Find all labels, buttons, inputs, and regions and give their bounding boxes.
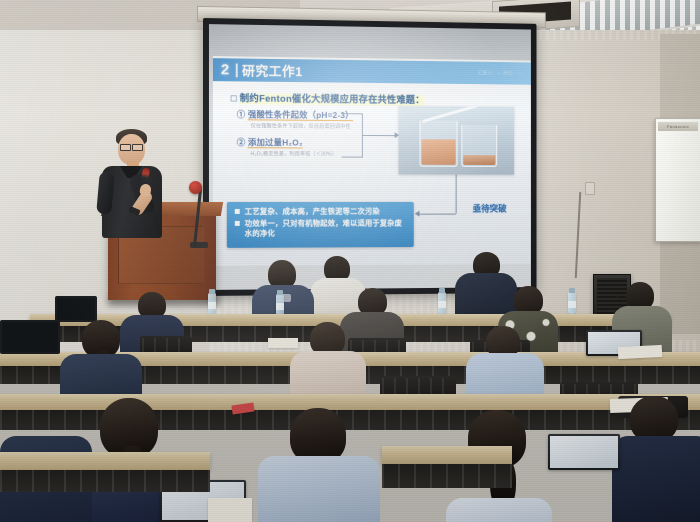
connector-arrowhead-left <box>415 211 420 217</box>
classroom-desk <box>0 452 210 470</box>
water-bottle <box>438 292 446 314</box>
connector-bottom <box>342 157 363 158</box>
attendee-ponytail-navy <box>60 320 142 396</box>
slide-point-1-note: 仅在强酸性条件下起效，反应后需回调中性 <box>251 122 351 130</box>
summary-bullet-square <box>235 209 240 214</box>
slide-headline-text: 制约Fenton催化大规模应用存在共性难题： <box>240 93 425 106</box>
water-bottle <box>276 294 284 316</box>
whiteboard-brand-label: Panasonic <box>658 122 698 131</box>
connector-to-box <box>420 214 456 215</box>
water-bottle <box>208 293 216 315</box>
connector-to-photo <box>362 135 395 136</box>
whiteboard: Panasonic <box>655 118 700 242</box>
desk-monitor <box>55 296 97 322</box>
presenter-glasses <box>120 144 143 149</box>
slide-title-text: 研究工作1 <box>242 61 303 81</box>
slide-right-note: 亟待突破 <box>473 204 518 214</box>
notebook-paper <box>208 498 252 522</box>
desk-monitor <box>0 320 60 354</box>
summary-item: 工艺复杂、成本高，产生铁泥等二次污染 <box>233 207 408 216</box>
classroom-desk <box>382 446 512 464</box>
slide-title-divider <box>236 63 238 77</box>
laptop <box>548 434 620 470</box>
slide-headline-bullet: □ <box>231 93 237 104</box>
attendee-navy-far-right <box>612 396 700 522</box>
attendee-light-blue-shirt <box>466 326 544 392</box>
gooseneck-microphone-head <box>189 181 202 194</box>
screen-surface: 2 研究工作1 汇报人：— 单位：— □ 制约Fenton催化大规模应用存在共性… <box>209 24 531 290</box>
notebook-paper <box>268 338 298 348</box>
summary-item: 功效单一，只对有机物起效，难以适用于复杂废水的净化 <box>233 219 408 238</box>
notebook-paper <box>618 345 663 359</box>
desk-front-panel <box>0 470 210 492</box>
slide-photo-beakers <box>398 106 514 175</box>
summary-bullet-square <box>235 221 240 226</box>
slide-point-1: ① 强酸性条件起效（pH=2-3） <box>237 108 354 121</box>
slide-point-1-marker: ① <box>237 109 246 119</box>
connector-down <box>456 175 457 214</box>
slide-summary-box: 工艺复杂、成本高，产生铁泥等二次污染 功效单一，只对有机物起效，难以适用于复杂废… <box>227 202 414 248</box>
lecture-room-photo: Panasonic 2 研究工作1 汇报人：— 单位：— □ 制约Fenton催… <box>0 0 700 522</box>
connector-top <box>342 113 363 114</box>
presenter-at-podium <box>96 128 172 238</box>
wall-socket <box>585 182 595 195</box>
slide-point-2-note: H₂O₂稳定性差，利用率低（＜30%） <box>251 150 337 157</box>
beaker-right <box>461 125 497 167</box>
slide-point-1-text: 强酸性条件起效（pH=2-3） <box>248 109 354 121</box>
beaker-left <box>420 121 458 167</box>
desk-front-panel <box>382 464 512 488</box>
slide-title-bar: 2 研究工作1 汇报人：— 单位：— <box>213 58 531 85</box>
water-bottle <box>568 292 576 314</box>
summary-item-text-1: 工艺复杂、成本高，产生铁泥等二次污染 <box>245 207 380 216</box>
slide-point-2-marker: ② <box>237 137 246 147</box>
attendee-front-light-blue <box>258 408 380 522</box>
summary-item-text-2: 功效单一，只对有机物起效，难以适用于复杂废水的净化 <box>245 219 408 238</box>
slide-point-2: ② 添加过量H₂O₂ <box>237 136 303 148</box>
slide-point-2-text: 添加过量H₂O₂ <box>248 137 303 148</box>
attendee-pale-top <box>290 322 366 392</box>
slide-headline: □ 制约Fenton催化大规模应用存在共性难题： <box>231 90 425 106</box>
slide-title-side-note: 汇报人：— 单位：— <box>478 70 531 77</box>
slide-title-number: 2 <box>213 61 232 78</box>
presentation-slide: 2 研究工作1 汇报人：— 单位：— □ 制约Fenton催化大规模应用存在共性… <box>213 56 531 266</box>
